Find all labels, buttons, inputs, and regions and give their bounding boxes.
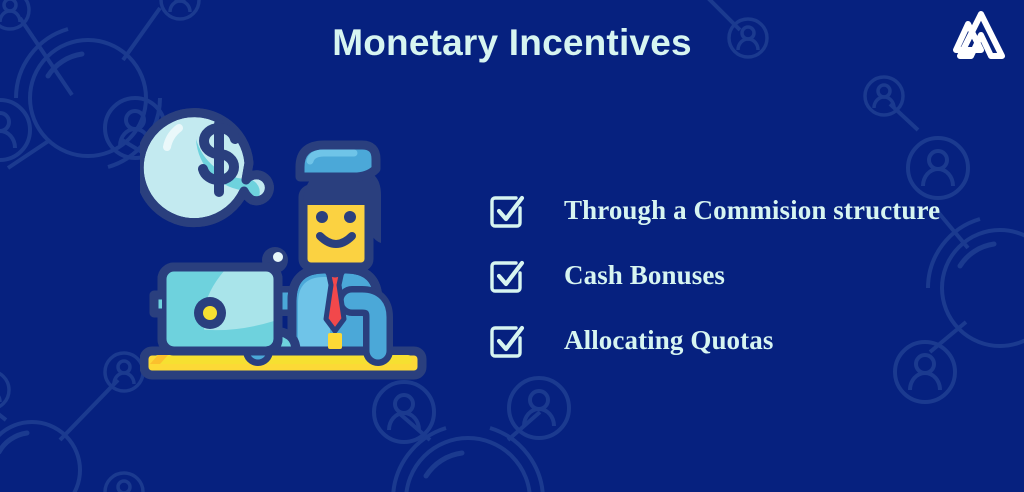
pattern-cluster-bottom-left [0,353,143,492]
businessman-money-illustration [140,105,440,395]
list-item[interactable]: Allocating Quotas [488,308,1018,373]
checkbox-checked-icon[interactable] [488,322,526,360]
list-item-label: Through a Commision structure [564,195,940,226]
list-item[interactable]: Through a Commision structure [488,178,1018,243]
list-item[interactable]: Cash Bonuses [488,243,1018,308]
page-title: Monetary Incentives [0,22,1024,64]
list-item-label: Cash Bonuses [564,260,725,291]
list-item-label: Allocating Quotas [564,325,773,356]
checkbox-checked-icon[interactable] [488,257,526,295]
checkbox-checked-icon[interactable] [488,192,526,230]
dollar-thought-bubble [140,113,269,223]
pattern-cluster-bottom-center [374,378,569,492]
laptop [154,267,296,351]
bullet-list: Through a Commision structure Cash Bonus… [488,178,1018,373]
